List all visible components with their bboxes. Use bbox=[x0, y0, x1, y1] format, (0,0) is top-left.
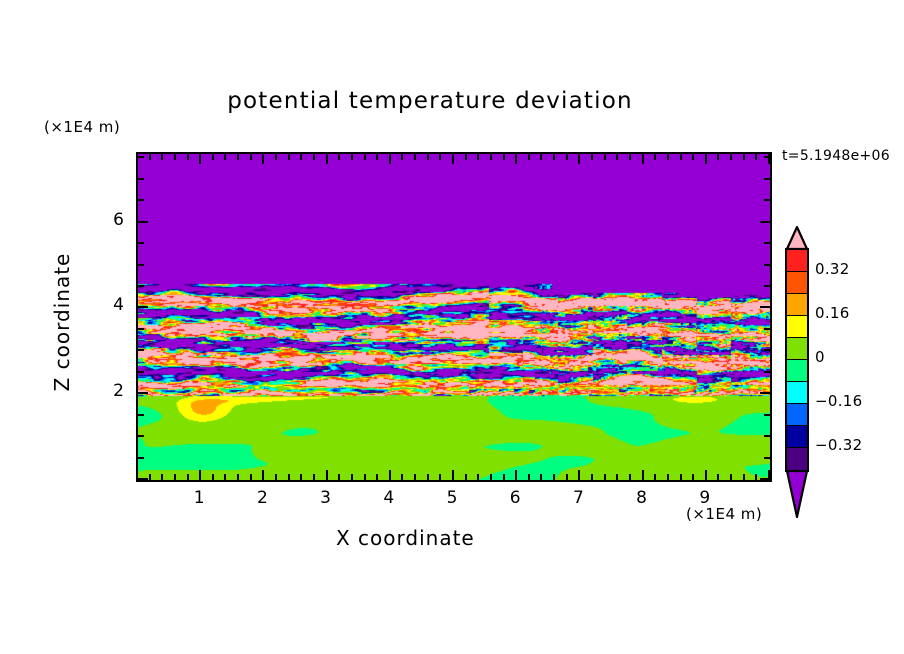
x-axis-tick bbox=[439, 474, 441, 480]
x-axis-tick bbox=[452, 470, 454, 480]
x-axis-tick-label: 5 bbox=[432, 488, 472, 508]
y-axis-tick-right bbox=[764, 199, 770, 201]
x-axis-tick-top bbox=[743, 154, 745, 160]
y-axis-tick-right bbox=[760, 306, 770, 308]
x-axis-tick-top bbox=[288, 154, 290, 160]
x-axis-tick bbox=[187, 474, 189, 480]
x-axis-tick bbox=[250, 474, 252, 480]
x-axis-tick-top bbox=[616, 154, 618, 160]
x-axis-tick-top bbox=[351, 154, 353, 160]
x-axis-tick-label: 8 bbox=[622, 488, 662, 508]
x-axis-tick-top bbox=[187, 154, 189, 160]
colorbar-band bbox=[787, 404, 807, 425]
y-axis-tick bbox=[138, 435, 144, 437]
x-axis-tick bbox=[300, 474, 302, 480]
x-axis-tick-top bbox=[717, 154, 719, 160]
colorbar-over-arrow bbox=[785, 226, 809, 250]
x-axis-tick bbox=[351, 474, 353, 480]
x-axis-tick-top bbox=[578, 154, 580, 164]
x-axis-tick bbox=[540, 474, 542, 480]
x-axis-tick-top bbox=[528, 154, 530, 160]
x-axis-tick bbox=[490, 474, 492, 480]
y-axis-tick-right bbox=[764, 242, 770, 244]
x-axis-tick bbox=[717, 474, 719, 480]
x-axis-tick-top bbox=[452, 154, 454, 164]
y-axis-title: Z coordinate bbox=[50, 232, 74, 412]
x-axis-tick bbox=[465, 474, 467, 480]
x-axis-tick bbox=[705, 470, 707, 480]
y-axis-tick bbox=[138, 457, 144, 459]
colorbar-tick-label: 0 bbox=[815, 348, 825, 366]
x-axis-tick bbox=[161, 474, 163, 480]
x-axis-tick-label: 4 bbox=[369, 488, 409, 508]
x-axis-tick-top bbox=[427, 154, 429, 160]
y-axis-tick-right bbox=[764, 328, 770, 330]
y-axis-tick-right bbox=[764, 457, 770, 459]
x-axis-tick-top bbox=[755, 154, 757, 160]
y-axis-tick-right bbox=[760, 478, 770, 480]
colorbar-tick-label: −0.16 bbox=[815, 392, 862, 410]
x-axis-tick bbox=[578, 470, 580, 480]
x-axis-tick-top bbox=[414, 154, 416, 160]
colorbar-band bbox=[787, 272, 807, 293]
y-axis-tick bbox=[138, 242, 144, 244]
x-axis-tick-top bbox=[174, 154, 176, 160]
x-axis-tick bbox=[174, 474, 176, 480]
y-axis-tick bbox=[138, 264, 144, 266]
y-axis-tick bbox=[138, 349, 144, 351]
x-axis-tick-top bbox=[730, 154, 732, 160]
y-axis-tick bbox=[138, 178, 144, 180]
contour-field-canvas bbox=[138, 154, 770, 480]
x-axis-tick-top bbox=[313, 154, 315, 160]
x-axis-tick bbox=[616, 474, 618, 480]
y-axis-tick bbox=[138, 199, 144, 201]
x-axis-tick-top bbox=[705, 154, 707, 164]
x-axis-tick-top bbox=[642, 154, 644, 164]
x-axis-tick-top bbox=[439, 154, 441, 160]
y-axis-tick-right bbox=[764, 349, 770, 351]
y-axis-tick-label: 4 bbox=[90, 295, 124, 315]
y-axis-tick bbox=[138, 221, 148, 223]
y-axis-tick-right bbox=[764, 435, 770, 437]
x-axis-title: X coordinate bbox=[336, 526, 475, 550]
y-axis-tick bbox=[138, 371, 144, 373]
y-axis-tick-right bbox=[764, 371, 770, 373]
y-axis-tick bbox=[138, 478, 148, 480]
x-axis-tick-top bbox=[389, 154, 391, 164]
x-axis-tick-top bbox=[591, 154, 593, 160]
x-axis-tick bbox=[212, 474, 214, 480]
colorbar-band bbox=[787, 250, 807, 271]
x-axis-tick-label: 2 bbox=[242, 488, 282, 508]
x-axis-tick-top bbox=[540, 154, 542, 160]
x-axis-tick-top bbox=[224, 154, 226, 160]
x-axis-tick bbox=[199, 470, 201, 480]
x-axis-tick-top bbox=[262, 154, 264, 164]
x-axis-tick bbox=[401, 474, 403, 480]
x-axis-tick-top bbox=[212, 154, 214, 160]
x-axis-tick-top bbox=[275, 154, 277, 160]
x-axis-tick bbox=[743, 474, 745, 480]
x-axis-tick bbox=[262, 470, 264, 480]
x-axis-tick-top bbox=[477, 154, 479, 160]
x-axis-tick-top bbox=[300, 154, 302, 160]
x-axis-tick-top bbox=[401, 154, 403, 160]
x-axis-tick-label: 9 bbox=[685, 488, 725, 508]
x-axis-tick bbox=[477, 474, 479, 480]
x-axis-tick-top bbox=[465, 154, 467, 160]
colorbar-band bbox=[787, 316, 807, 337]
x-axis-tick bbox=[326, 470, 328, 480]
x-axis-tick bbox=[515, 470, 517, 480]
colorbar-band bbox=[787, 294, 807, 315]
x-axis-tick-top bbox=[692, 154, 694, 160]
x-axis-tick bbox=[237, 474, 239, 480]
x-axis-tick-label: 3 bbox=[306, 488, 346, 508]
y-axis-tick-right bbox=[764, 264, 770, 266]
x-axis-tick-top bbox=[161, 154, 163, 160]
x-axis-tick-top bbox=[629, 154, 631, 160]
colorbar bbox=[785, 248, 809, 472]
x-axis-tick bbox=[364, 474, 366, 480]
x-axis-tick bbox=[224, 474, 226, 480]
x-axis-tick-top bbox=[604, 154, 606, 160]
x-axis-tick bbox=[692, 474, 694, 480]
y-axis-tick-label: 2 bbox=[90, 381, 124, 401]
y-axis-tick bbox=[138, 285, 144, 287]
x-axis-tick bbox=[667, 474, 669, 480]
y-axis-tick-right bbox=[760, 392, 770, 394]
colorbar-band bbox=[787, 426, 807, 447]
x-axis-tick-top bbox=[566, 154, 568, 160]
x-axis-tick bbox=[275, 474, 277, 480]
x-axis-tick bbox=[427, 474, 429, 480]
colorbar-band bbox=[787, 360, 807, 381]
x-axis-tick-top bbox=[515, 154, 517, 164]
y-axis-tick-right bbox=[764, 414, 770, 416]
x-axis-tick bbox=[553, 474, 555, 480]
y-axis-tick bbox=[138, 156, 144, 158]
x-axis-tick-top bbox=[553, 154, 555, 160]
colorbar-under-arrow bbox=[785, 470, 809, 518]
x-axis-tick bbox=[591, 474, 593, 480]
x-axis-tick-top bbox=[199, 154, 201, 164]
figure-root: potential temperature deviation (×1E4 m)… bbox=[0, 0, 904, 654]
x-axis-tick bbox=[755, 474, 757, 480]
z-axis-units-label: (×1E4 m) bbox=[44, 118, 120, 136]
time-stamp-annotation: t=5.1948e+06 bbox=[782, 148, 890, 164]
x-axis-tick-label: 7 bbox=[558, 488, 598, 508]
colorbar-tick-label: −0.32 bbox=[815, 436, 862, 454]
page-title: potential temperature deviation bbox=[0, 88, 860, 114]
x-axis-tick bbox=[288, 474, 290, 480]
x-axis-tick-top bbox=[503, 154, 505, 160]
x-axis-tick-top bbox=[338, 154, 340, 160]
x-axis-tick bbox=[654, 474, 656, 480]
y-axis-tick-right bbox=[764, 285, 770, 287]
x-axis-tick bbox=[376, 474, 378, 480]
x-axis-tick bbox=[389, 470, 391, 480]
x-axis-tick bbox=[414, 474, 416, 480]
y-axis-tick-right bbox=[764, 156, 770, 158]
x-axis-tick-top bbox=[237, 154, 239, 160]
x-axis-tick-top bbox=[326, 154, 328, 164]
x-axis-tick bbox=[566, 474, 568, 480]
colorbar-band bbox=[787, 448, 807, 470]
x-axis-tick-top bbox=[680, 154, 682, 160]
x-axis-tick bbox=[503, 474, 505, 480]
x-axis-tick bbox=[313, 474, 315, 480]
colorbar-tick-label: 0.32 bbox=[815, 260, 850, 278]
x-axis-tick-top bbox=[376, 154, 378, 160]
x-axis-tick-top bbox=[667, 154, 669, 160]
y-axis-tick bbox=[138, 392, 148, 394]
y-axis-tick-right bbox=[760, 221, 770, 223]
x-axis-tick-top bbox=[490, 154, 492, 160]
x-axis-tick-top bbox=[654, 154, 656, 160]
x-axis-tick-label: 6 bbox=[495, 488, 535, 508]
x-axis-tick bbox=[604, 474, 606, 480]
x-axis-tick bbox=[629, 474, 631, 480]
x-axis-tick bbox=[149, 474, 151, 480]
x-axis-tick bbox=[338, 474, 340, 480]
y-axis-tick bbox=[138, 414, 144, 416]
x-axis-tick-top bbox=[364, 154, 366, 160]
x-axis-tick bbox=[528, 474, 530, 480]
contour-plot-area bbox=[136, 152, 772, 482]
x-axis-tick-label: 1 bbox=[179, 488, 219, 508]
y-axis-tick bbox=[138, 328, 144, 330]
y-axis-tick-right bbox=[764, 178, 770, 180]
x-axis-tick-top bbox=[250, 154, 252, 160]
x-axis-tick bbox=[642, 470, 644, 480]
y-axis-tick-label: 6 bbox=[90, 210, 124, 230]
colorbar-band bbox=[787, 382, 807, 403]
x-axis-tick bbox=[730, 474, 732, 480]
x-axis-tick bbox=[680, 474, 682, 480]
colorbar-band bbox=[787, 338, 807, 359]
colorbar-tick-label: 0.16 bbox=[815, 304, 850, 322]
x-axis-tick-top bbox=[149, 154, 151, 160]
y-axis-tick bbox=[138, 306, 148, 308]
